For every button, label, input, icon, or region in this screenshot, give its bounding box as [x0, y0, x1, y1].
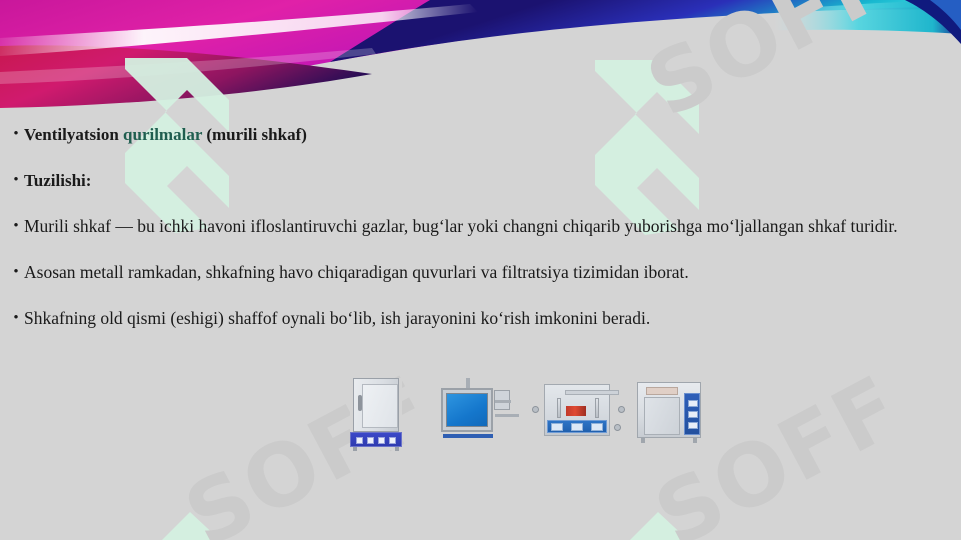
- furnace-door: [362, 384, 398, 428]
- bullet-text: Shkafning old qismi (eshigi) shaffof oyn…: [24, 306, 943, 331]
- furnace-body: [353, 378, 399, 432]
- soff-logo-mark: [160, 512, 230, 540]
- bullet-item-title: • Ventilyatsion qurilmalar (murili shkaf…: [0, 122, 961, 147]
- soff-logo-mark: [628, 512, 698, 540]
- bullet-segment: (murili shkaf): [202, 125, 307, 144]
- side-knob: [532, 406, 539, 413]
- bullet-segment: Ventilyatsion: [24, 125, 123, 144]
- blue-front-chamber-furnace-image: [435, 384, 521, 446]
- bullet-text: Murili shkaf — bu ichki havoni ifloslant…: [24, 214, 943, 239]
- heating-element: [566, 406, 586, 416]
- panel-button: [378, 437, 385, 444]
- furnace-body: [637, 382, 701, 438]
- box-furnace-with-side-panel-image: [635, 382, 705, 448]
- control-panel: [547, 420, 607, 433]
- furnace-leg: [641, 438, 645, 443]
- furnace-vent: [646, 387, 678, 395]
- bullet-marker-icon: •: [8, 214, 24, 239]
- furnace-glass-front: [446, 393, 488, 427]
- bullet-marker-icon: •: [8, 168, 24, 193]
- panel-button: [367, 437, 374, 444]
- bullet-text: Tuzilishi:: [24, 168, 943, 193]
- panel-button: [688, 411, 698, 418]
- furnace-base: [443, 434, 493, 438]
- bullet-marker-icon: •: [8, 260, 24, 285]
- furnace-leg: [693, 438, 697, 443]
- bullet-item-construction: • Asosan metall ramkadan, shkafning havo…: [0, 260, 961, 285]
- panel-display: [591, 423, 603, 431]
- furnace-rod: [595, 398, 599, 418]
- slide-body-content: • Ventilyatsion qurilmalar (murili shkaf…: [0, 122, 961, 352]
- furnace-lid: [565, 390, 619, 395]
- panel-button: [389, 437, 396, 444]
- panel-display: [571, 423, 583, 431]
- bullet-item-definition: • Murili shkaf — bu ichki havoni iflosla…: [0, 214, 961, 239]
- presentation-slide: SOFF SOFF SOFF • Ventilyatsion qurilmala…: [0, 0, 961, 540]
- side-arm: [495, 400, 511, 403]
- side-knob: [614, 424, 621, 431]
- panel-button: [688, 400, 698, 407]
- bullet-text: Ventilyatsion qurilmalar (murili shkaf): [24, 122, 943, 147]
- furnace-handle: [358, 395, 362, 411]
- panel-button: [356, 437, 363, 444]
- bullet-item-subtitle: • Tuzilishi:: [0, 168, 961, 193]
- furnace-rod: [557, 398, 561, 418]
- decorative-wave-banner: [0, 0, 961, 110]
- bullet-marker-icon: •: [8, 306, 24, 331]
- equipment-image-strip: [340, 372, 740, 462]
- side-arm: [495, 414, 519, 417]
- bullet-text: Asosan metall ramkadan, shkafning havo c…: [24, 260, 943, 285]
- bullet-item-door: • Shkafning old qismi (eshigi) shaffof o…: [0, 306, 961, 331]
- furnace-leg: [353, 447, 357, 451]
- bullet-marker-icon: •: [8, 122, 24, 147]
- bullet-segment-accent: qurilmalar: [123, 125, 202, 144]
- furnace-leg: [395, 447, 399, 451]
- control-panel: [350, 432, 402, 447]
- panel-display: [551, 423, 563, 431]
- laboratory-cabinet-furnace-image: [350, 378, 402, 450]
- side-knob: [618, 406, 625, 413]
- panel-button: [688, 422, 698, 429]
- control-panel: [684, 393, 700, 435]
- wide-tube-furnace-image: [530, 384, 630, 446]
- furnace-door: [644, 397, 680, 435]
